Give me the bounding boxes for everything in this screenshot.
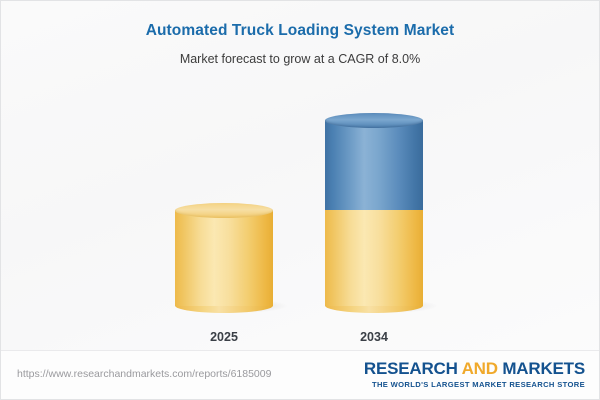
bar-cylinder-2034[interactable] [325,113,423,306]
logo-wordmark: RESEARCH AND MARKETS [364,359,585,379]
bar-body-base-2034 [325,203,423,306]
source-url[interactable]: https://www.researchandmarkets.com/repor… [17,367,271,381]
bar-segment-base-2025 [175,203,273,306]
category-label-2025: 2025 [144,329,304,345]
category-label-2034: 2034 [294,329,454,345]
bar-top-ellipse-2034 [325,113,423,128]
logo-text-markets: MARKETS [498,359,585,378]
bar-cylinder-2025[interactable] [175,203,273,306]
bar-body-growth-2034 [325,120,423,210]
chart-infographic: Automated Truck Loading System Market Ma… [0,0,600,400]
research-and-markets-logo[interactable]: RESEARCH AND MARKETS THE WORLD'S LARGEST… [364,359,585,390]
bar-top-ellipse-2025 [175,203,273,218]
chart-title: Automated Truck Loading System Market [1,21,599,41]
footer: https://www.researchandmarkets.com/repor… [1,350,599,399]
logo-text-and: AND [462,359,498,378]
chart-plot-area: USD 4 Billion 2025 USD 8 Billion [1,86,599,351]
bar-segment-base-2034 [325,203,423,306]
bar-segment-growth-2034 [325,113,423,210]
chart-subtitle: Market forecast to grow at a CAGR of 8.0… [1,51,599,67]
logo-text-research: RESEARCH [364,359,462,378]
chart-header: Automated Truck Loading System Market Ma… [1,1,599,67]
bar-body-2025 [175,210,273,306]
logo-tagline: THE WORLD'S LARGEST MARKET RESEARCH STOR… [364,380,585,390]
